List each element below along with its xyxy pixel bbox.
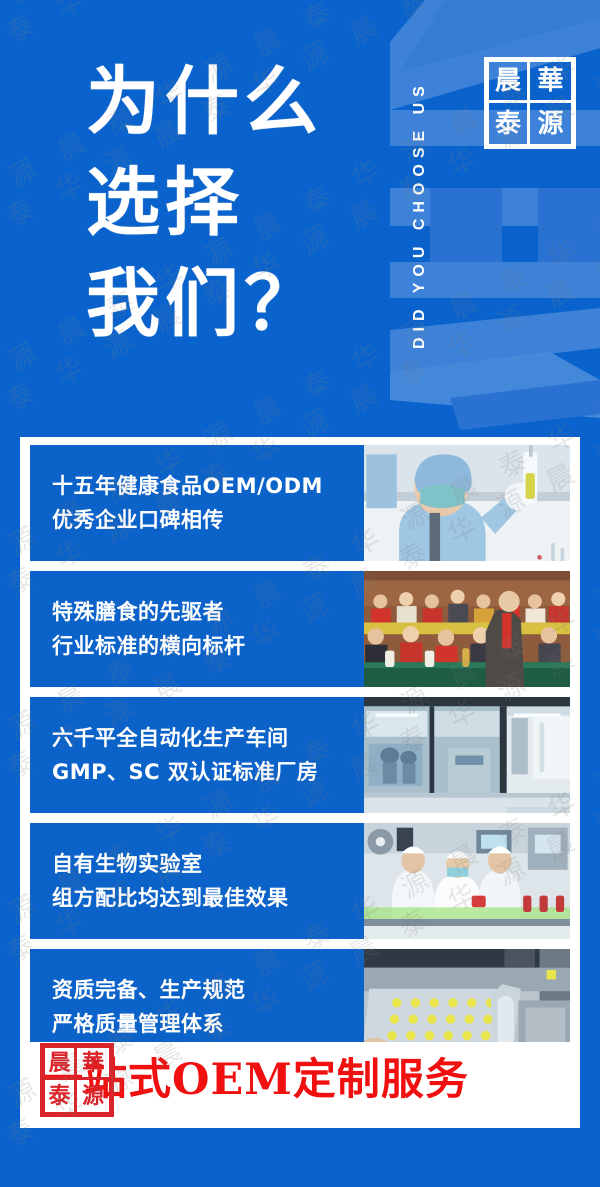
feature-card-text: 十五年健康食品OEM/ODM 优秀企业口碑相传: [30, 445, 364, 561]
feature-card-line-1: 资质完备、生产规范: [52, 973, 364, 1007]
feature-card-text: 六千平全自动化生产车间 GMP、SC 双认证标准厂房: [30, 697, 364, 813]
seal-glyph-bottom-right: 源: [77, 1080, 109, 1112]
feature-card-line-2: 严格质量管理体系: [52, 1007, 364, 1041]
seal-glyph-top-left: 晨: [489, 62, 530, 103]
brand-seal-logo-white: 晨 華 泰 源: [484, 57, 576, 149]
seal-glyph-top-right: 華: [530, 62, 571, 103]
feature-card-line-2: 行业标准的横向标杆: [52, 629, 364, 663]
feature-card-photo-packaging-line: [364, 823, 570, 939]
feature-card-photo-conference-audience: [364, 571, 570, 687]
title-line-2: 选择: [86, 153, 323, 254]
vertical-tagline: DID YOU CHOOSE US: [411, 20, 445, 410]
feature-card-text: 特殊膳食的先驱者 行业标准的横向标杆: [30, 571, 364, 687]
feature-card-line-2: 优秀企业口碑相传: [52, 503, 364, 537]
feature-card[interactable]: 自有生物实验室 组方配比均达到最佳效果: [30, 823, 570, 939]
poster-root: 为什么 选择 我们？ DID YOU CHOOSE US 晨 華 泰 源 十五年…: [0, 0, 600, 1187]
brand-seal-logo-red: 晨 華 泰 源: [40, 1043, 114, 1117]
feature-card-line-1: 六千平全自动化生产车间: [52, 721, 364, 755]
feature-card[interactable]: 六千平全自动化生产车间 GMP、SC 双认证标准厂房: [30, 697, 570, 813]
feature-card-line-1: 自有生物实验室: [52, 847, 364, 881]
feature-card-line-2: GMP、SC 双认证标准厂房: [52, 755, 364, 789]
title-line-1: 为什么: [86, 52, 323, 153]
feature-card-line-1: 特殊膳食的先驱者: [52, 595, 364, 629]
feature-card-list: 十五年健康食品OEM/ODM 优秀企业口碑相传: [30, 445, 570, 1075]
feature-card-text: 自有生物实验室 组方配比均达到最佳效果: [30, 823, 364, 939]
bottom-cta-banner[interactable]: 晨 華 泰 源 一站式OEM定制服务: [30, 1042, 570, 1118]
feature-card-line-1: 十五年健康食品OEM/ODM: [52, 469, 364, 503]
feature-card-line-2: 组方配比均达到最佳效果: [52, 881, 364, 915]
seal-glyph-top-left: 晨: [45, 1048, 77, 1080]
seal-glyph-bottom-left: 泰: [489, 103, 530, 144]
title-line-3: 我们？: [86, 254, 323, 355]
poster-header: 为什么 选择 我们？ DID YOU CHOOSE US 晨 華 泰 源: [0, 0, 600, 437]
feature-card[interactable]: 特殊膳食的先驱者 行业标准的横向标杆: [30, 571, 570, 687]
seal-glyph-top-right: 華: [77, 1048, 109, 1080]
page-title: 为什么 选择 我们？: [86, 52, 323, 355]
feature-card[interactable]: 十五年健康食品OEM/ODM 优秀企业口碑相传: [30, 445, 570, 561]
feature-card-photo-lab-technician: [364, 445, 570, 561]
seal-glyph-bottom-right: 源: [530, 103, 571, 144]
content-panel: 十五年健康食品OEM/ODM 优秀企业口碑相传: [20, 437, 580, 1128]
feature-card-photo-cleanroom: [364, 697, 570, 813]
seal-glyph-bottom-left: 泰: [45, 1080, 77, 1112]
